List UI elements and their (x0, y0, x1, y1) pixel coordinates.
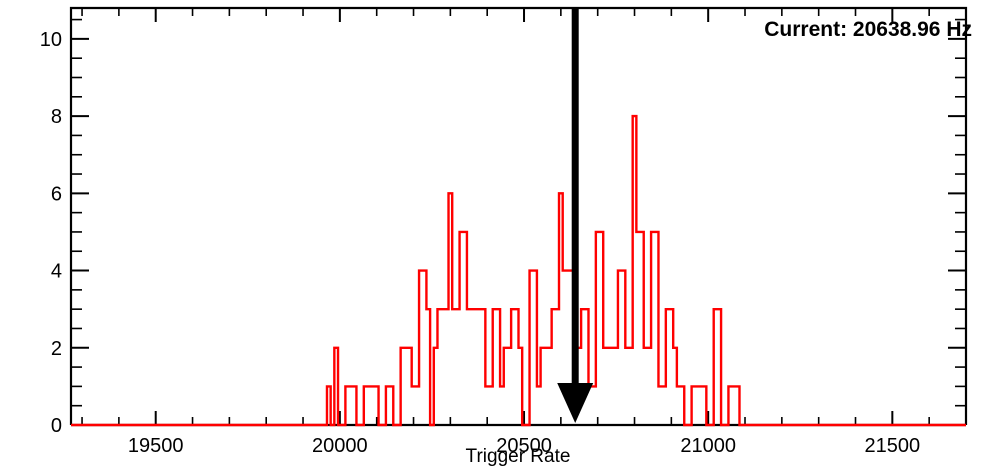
x-tick-label: 21500 (865, 435, 921, 457)
histogram-trace (71, 116, 966, 425)
y-tick-label: 4 (51, 261, 62, 283)
x-tick-label: 19500 (128, 435, 184, 457)
y-tick-label: 6 (51, 183, 62, 205)
y-tick-label: 0 (51, 415, 62, 437)
x-tick-label: 20000 (312, 435, 368, 457)
axis-tick-labels: 19500200002050021000215000246810 (40, 29, 920, 457)
y-tick-label: 10 (40, 29, 62, 51)
x-tick-label: 21000 (680, 435, 736, 457)
marker-arrowhead (557, 383, 593, 423)
x-axis-title: Trigger Rate (466, 446, 571, 467)
histogram-plot: 19500200002050021000215000246810 Trigger… (0, 0, 996, 472)
y-tick-label: 8 (51, 106, 62, 128)
root-canvas: 19500200002050021000215000246810 Trigger… (0, 0, 996, 472)
y-tick-label: 2 (51, 338, 62, 360)
current-rate-label: Current: 20638.96 Hz (764, 18, 972, 42)
plot-frame (71, 8, 966, 425)
axis-ticks (71, 8, 966, 425)
